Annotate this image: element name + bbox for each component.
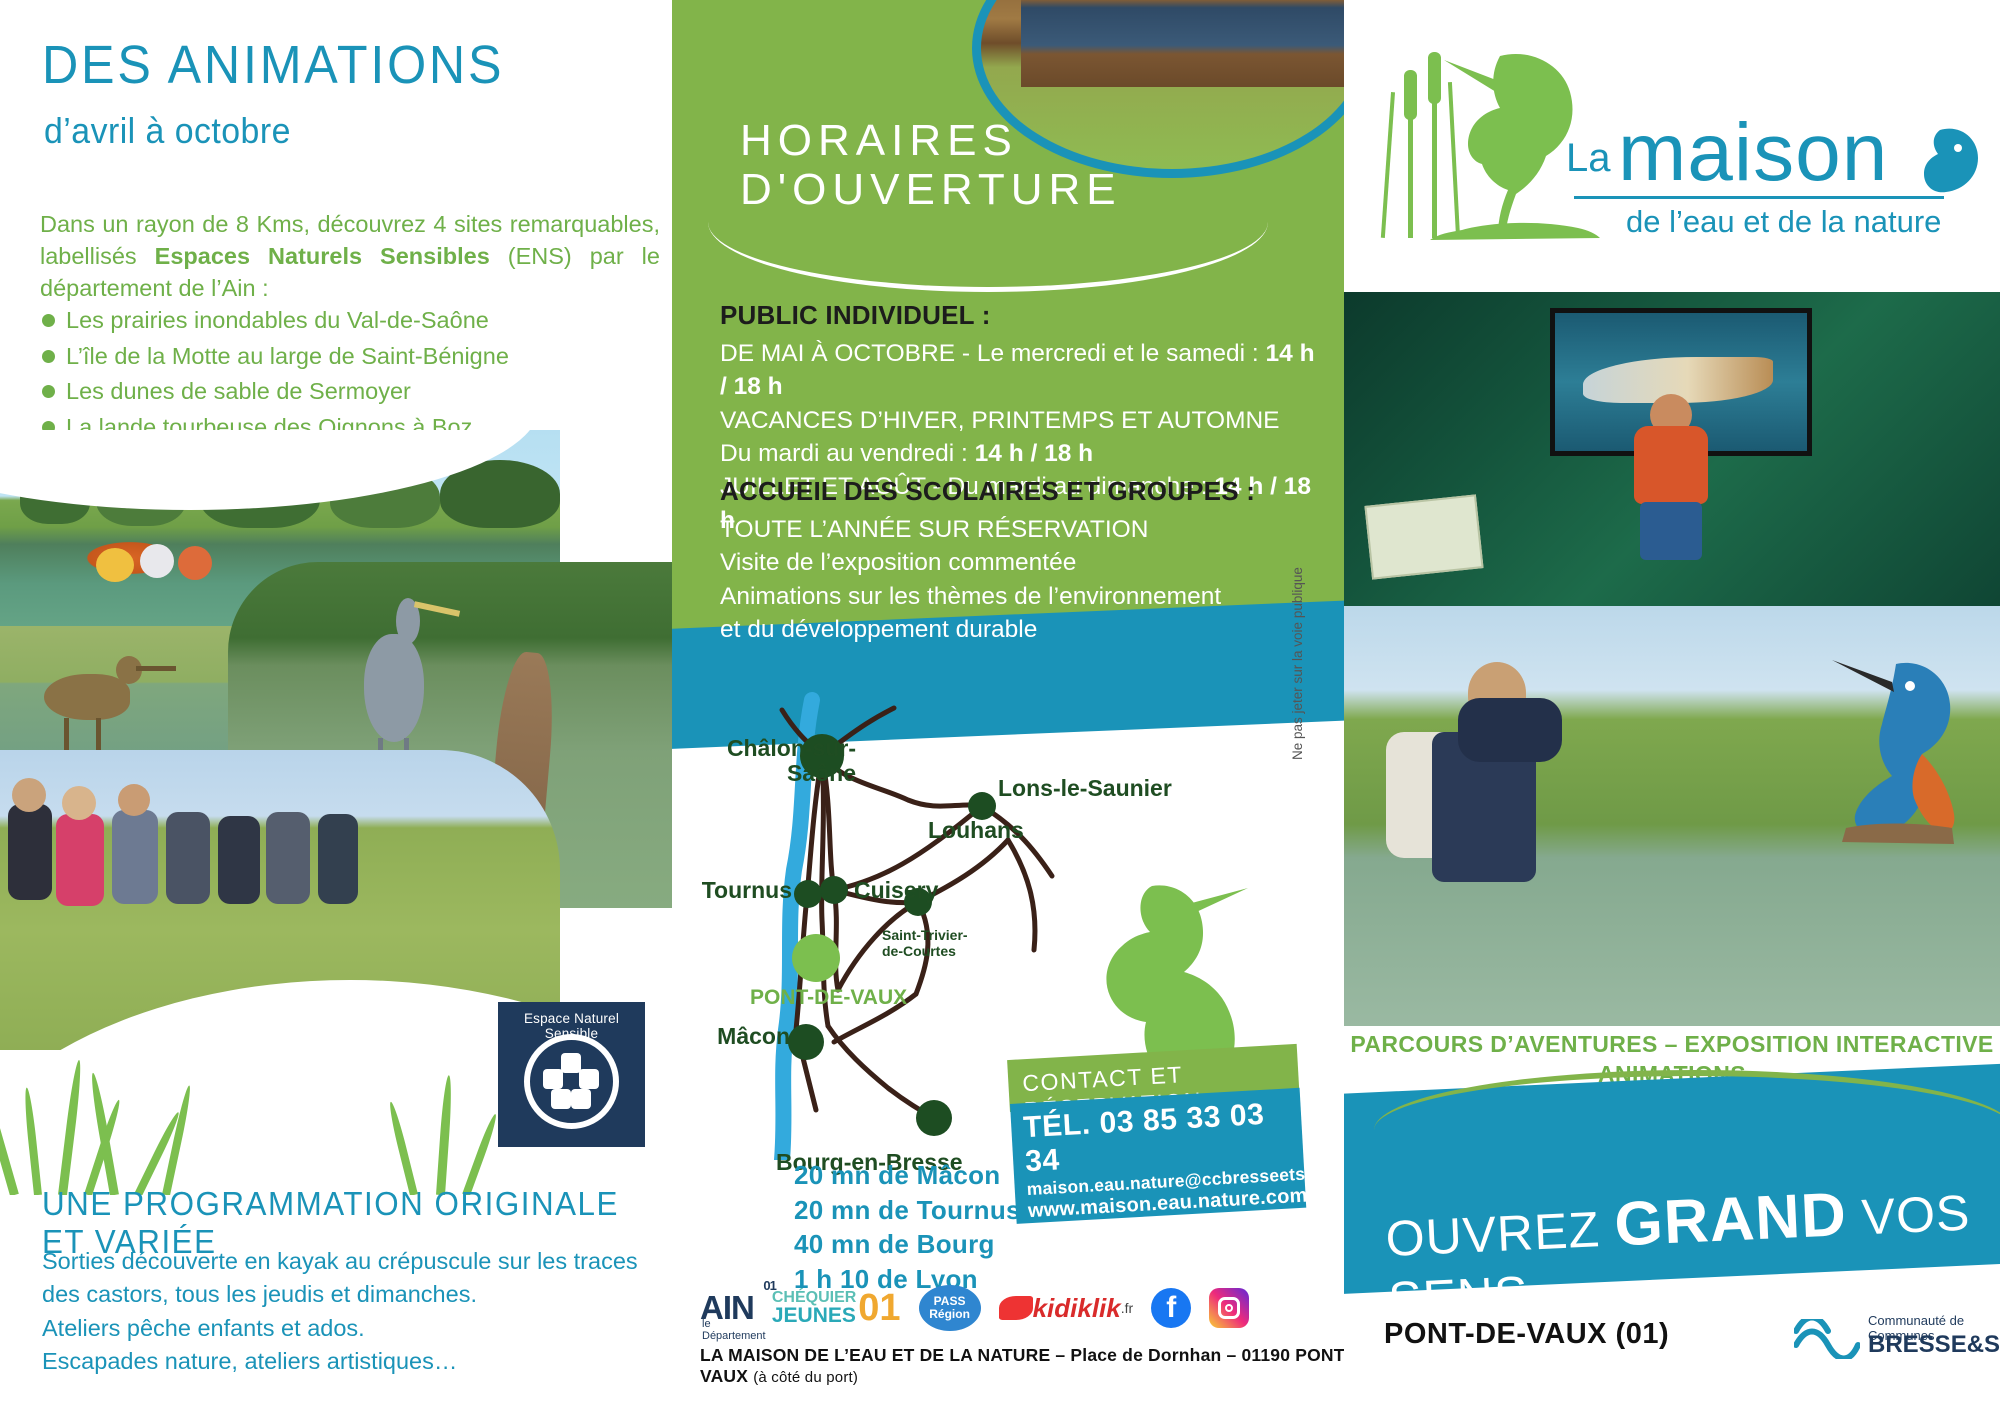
child-at-exhibit bbox=[1626, 392, 1722, 592]
map-node-bourg bbox=[916, 1100, 952, 1136]
photo-collage-left bbox=[0, 430, 672, 1050]
list-item: Les prairies inondables du Val-de-Saône bbox=[42, 305, 642, 337]
partner-logos: AIN 01 le Département CHÉQUIER JEUNES 01… bbox=[700, 1278, 1340, 1338]
map-node-pont-de-vaux bbox=[792, 934, 840, 982]
legal-note-vertical: Ne pas jeter sur la voie publique bbox=[1290, 520, 1305, 760]
map-node-macon bbox=[788, 1024, 824, 1060]
map-label-tournus: Tournus bbox=[672, 878, 792, 903]
child-with-binoculars bbox=[1386, 646, 1566, 976]
list-item-label: Les dunes de sable de Sermoyer bbox=[66, 376, 411, 408]
panel-middle: HORAIRES D'OUVERTURE PUBLIC INDIVIDUEL :… bbox=[672, 0, 1344, 1408]
instagram-icon[interactable] bbox=[1209, 1288, 1249, 1328]
map-label-chalon-sur-saone: Châlon-sur-Saône bbox=[682, 736, 856, 787]
beaver-icon bbox=[1920, 124, 1984, 198]
bullet-dot-icon bbox=[42, 314, 55, 327]
slogan-emphasis: GRAND bbox=[1613, 1180, 1848, 1259]
location-label: PONT-DE-VAUX (01) bbox=[1384, 1318, 1804, 1351]
contact-box: CONTACT ET RÉSERVATION TÉL. 03 85 33 03 … bbox=[1010, 1060, 1300, 1225]
list-item: L’île de la Motte au large de Saint-Béni… bbox=[42, 341, 642, 373]
horaires-row: Du mardi au vendredi : 14 h / 18 h bbox=[720, 437, 1320, 470]
logo-chequier-l2: JEUNES bbox=[772, 1306, 856, 1326]
photo-exhibit-interactive bbox=[1344, 292, 2000, 624]
photo-birdwatching bbox=[1344, 606, 2000, 1026]
heading-public-individuel: PUBLIC INDIVIDUEL : bbox=[720, 300, 1320, 331]
programmation-line: Ateliers pêche enfants et ados. bbox=[42, 1312, 662, 1345]
horaires-row-text: Du mardi au vendredi : bbox=[720, 440, 975, 467]
logo-kidiklik-label: kidiklik bbox=[1033, 1293, 1121, 1324]
programmation-line: Escapades nature, ateliers artistiques… bbox=[42, 1345, 662, 1378]
grass-decoration bbox=[0, 1035, 672, 1195]
brand-word-la: La bbox=[1566, 136, 1611, 181]
child-arm-binoculars bbox=[1458, 698, 1562, 762]
programmation-line: des castors, tous les jeudis et dimanche… bbox=[42, 1278, 662, 1311]
child-legs bbox=[1640, 502, 1702, 560]
page-title: DES ANIMATIONS bbox=[42, 38, 563, 92]
list-item-label: L’île de la Motte au large de Saint-Béni… bbox=[66, 341, 509, 373]
tagline-line-1: PARCOURS D’AVENTURES – EXPOSITION INTERA… bbox=[1344, 1030, 2000, 1060]
heading-scolaires: ACCUEIL DES SCOLAIRES ET GROUPES : bbox=[720, 476, 1320, 507]
block-scolaires: ACCUEIL DES SCOLAIRES ET GROUPES : TOUTE… bbox=[720, 476, 1320, 646]
panel-left: DES ANIMATIONS d’avril à octobre Dans un… bbox=[0, 0, 672, 1408]
page-subtitle: d’avril à octobre bbox=[44, 110, 570, 152]
bullet-dot-icon bbox=[42, 385, 55, 398]
programmation-body: Sorties découverte en kayak au crépuscul… bbox=[42, 1245, 662, 1378]
scolaires-row: TOUTE L’ANNÉE SUR RÉSERVATION bbox=[720, 513, 1320, 546]
logo-pass-region[interactable]: PASS Région bbox=[919, 1285, 981, 1331]
map-node-cuisery bbox=[820, 876, 848, 904]
map-label-louhans: Louhans bbox=[928, 818, 1024, 843]
instagram-dot-icon bbox=[1225, 1304, 1233, 1312]
map-label-pont-de-vaux: PONT-DE-VAUX bbox=[750, 986, 907, 1009]
logo-ain-sub: le Département bbox=[702, 1318, 766, 1342]
brand-logo: La maison de l’eau et de la nature bbox=[1360, 28, 2000, 258]
logo-chequier-jeunes[interactable]: CHÉQUIER JEUNES 01 bbox=[772, 1284, 901, 1332]
intro-paragraph: Dans un rayon de 8 Kms, découvrez 4 site… bbox=[40, 208, 660, 305]
building-shape bbox=[1021, 0, 1344, 87]
horaires-line-2: D'OUVERTURE bbox=[740, 165, 1000, 214]
programmation-line: Sorties découverte en kayak au crépuscul… bbox=[42, 1245, 662, 1278]
scolaires-row: et du développement durable bbox=[720, 613, 1320, 646]
horaires-row: DE MAI À OCTOBRE - Le mercredi et le sam… bbox=[720, 337, 1320, 404]
horaires-row-time: 14 h / 18 h bbox=[975, 440, 1093, 467]
ens-sites-list: Les prairies inondables du Val-de-Saône … bbox=[42, 305, 642, 448]
logo-kidiklik-tld: .fr bbox=[1121, 1300, 1133, 1316]
list-item: Les dunes de sable de Sermoyer bbox=[42, 376, 642, 408]
map-label-cuisery: Cuisery bbox=[854, 878, 938, 903]
kingfisher-bird-image bbox=[1796, 630, 1986, 860]
brand-tagline: de l’eau et de la nature bbox=[1626, 204, 1941, 240]
map-node-tournus bbox=[794, 880, 822, 908]
brand-word-maison: maison bbox=[1618, 106, 1888, 200]
horaires-row: VACANCES D’HIVER, PRINTEMPS ET AUTOMNE bbox=[720, 404, 1320, 437]
instagram-square-icon bbox=[1218, 1297, 1240, 1319]
wave-icon bbox=[1794, 1319, 1860, 1359]
logo-ain-departement[interactable]: AIN 01 le Département bbox=[700, 1284, 754, 1332]
logo-communaute-communes[interactable]: Communauté de Communes BRESSE&SAÔNE bbox=[1794, 1305, 1994, 1375]
map-label-macon: Mâcon bbox=[672, 1024, 790, 1049]
logo-kidiklik[interactable]: kidiklik .fr bbox=[999, 1284, 1134, 1332]
facebook-icon[interactable]: f bbox=[1151, 1288, 1191, 1328]
map-label-saint-trivier-de-courtes: Saint-Trivier-de-Courtes bbox=[882, 928, 968, 959]
horaires-row-text: DE MAI À OCTOBRE - Le mercredi et le sam… bbox=[720, 340, 1266, 367]
horaires-line-1: HORAIRES bbox=[740, 116, 1000, 165]
logo-ain-01: 01 bbox=[763, 1278, 775, 1293]
list-item-label: Les prairies inondables du Val-de-Saône bbox=[66, 305, 489, 337]
intro-text-bold: Espaces Naturels Sensibles bbox=[155, 243, 490, 269]
cc-logo-line-2: BRESSE&SAÔNE bbox=[1868, 1331, 2000, 1359]
panel-right: La maison de l’eau et de la nature bbox=[1344, 0, 2000, 1408]
logo-pass-l2: Région bbox=[929, 1308, 970, 1321]
footer-address: LA MAISON DE L’EAU ET DE LA NATURE – Pla… bbox=[700, 1345, 1344, 1387]
map-label-lons-le-saunier: Lons-le-Saunier bbox=[998, 776, 1172, 801]
bullet-dot-icon bbox=[42, 350, 55, 363]
scolaires-row: Visite de l’exposition commentée bbox=[720, 546, 1320, 579]
child-torso bbox=[1634, 426, 1708, 504]
horaires-row-text: VACANCES D’HIVER, PRINTEMPS ET AUTOMNE bbox=[720, 407, 1280, 434]
brochure-page: DES ANIMATIONS d’avril à octobre Dans un… bbox=[0, 0, 2000, 1408]
exhibit-placard bbox=[1364, 494, 1483, 579]
section-title-horaires: HORAIRES D'OUVERTURE bbox=[740, 116, 1000, 215]
map-node-louhans bbox=[968, 792, 996, 820]
footer-address-note: (à côté du port) bbox=[753, 1369, 858, 1386]
contact-details: TÉL. 03 85 33 03 34 maison.eau.nature@cc… bbox=[1010, 1088, 1306, 1224]
kidiklik-bird-icon bbox=[999, 1296, 1033, 1320]
scolaires-row: Animations sur les thèmes de l’environne… bbox=[720, 580, 1320, 613]
travel-time-item: 40 mn de Bourg bbox=[794, 1227, 1094, 1262]
brand-underline bbox=[1574, 196, 1944, 199]
logo-chequier-01: 01 bbox=[858, 1287, 900, 1330]
slogan-pre: OUVREZ bbox=[1384, 1201, 1616, 1267]
